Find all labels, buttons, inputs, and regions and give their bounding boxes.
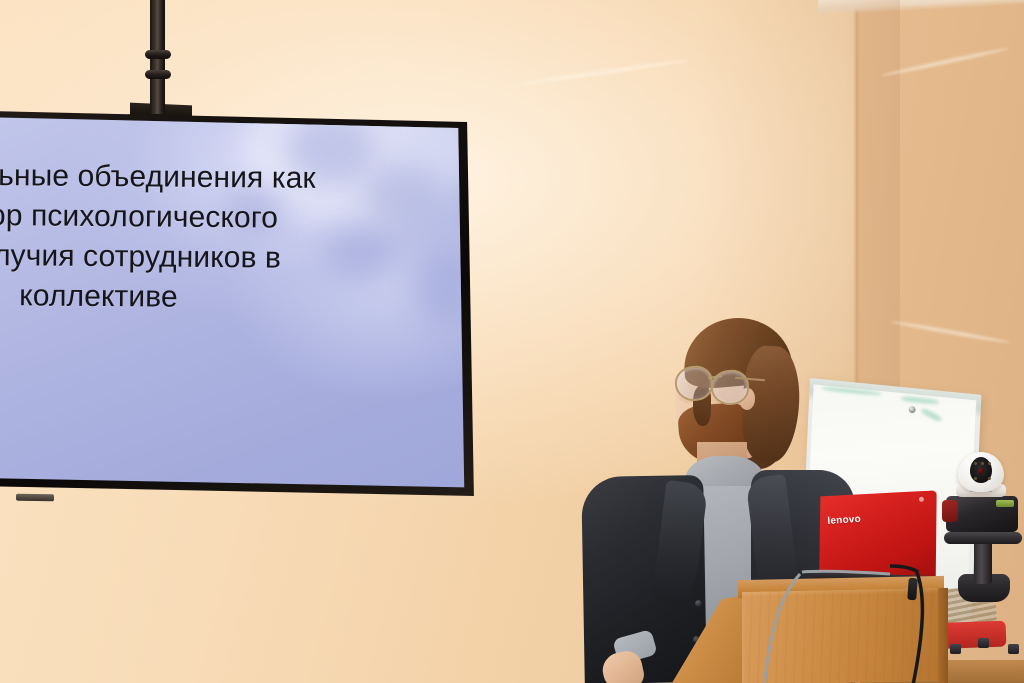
slide-line-4: коллективе xyxy=(0,274,440,320)
tripod-leg-lock xyxy=(1008,644,1019,654)
jacket-button xyxy=(695,600,702,607)
camera-ir-led xyxy=(988,462,991,465)
camera-lens xyxy=(978,468,984,474)
camera-ir-led xyxy=(988,477,991,480)
cable-inline-connector xyxy=(907,578,918,601)
presentation-room-photo: ссиональные объединения как фактор психо… xyxy=(0,0,1024,683)
tv-mount-knob xyxy=(145,50,171,59)
camera-tripod-rig[interactable] xyxy=(940,448,1024,683)
wall-mounted-tv[interactable]: ссиональные объединения как фактор психо… xyxy=(0,100,480,500)
camera-ir-led xyxy=(974,477,977,480)
tripod-center-column xyxy=(974,540,992,584)
tripod-leg-lock xyxy=(978,638,989,648)
slide-line-1: ссиональные объединения как xyxy=(0,154,441,200)
tripod-leg-right xyxy=(1004,593,1024,683)
tripod-pan-handle[interactable] xyxy=(944,532,1022,544)
tv-screen[interactable]: ссиональные объединения как фактор психо… xyxy=(0,105,474,494)
camera-ir-led xyxy=(974,462,977,465)
slide-text: ссиональные объединения как фактор психо… xyxy=(0,154,474,321)
laptop-lid-reflection xyxy=(919,497,924,502)
tripod-head-accent-green xyxy=(996,500,1014,507)
camera-ir-led xyxy=(981,462,984,465)
slide-line-2: фактор психологического xyxy=(0,194,440,240)
tripod-head-accent-red xyxy=(942,500,958,522)
tv-mount-knob xyxy=(145,70,171,79)
tripod-leg-lock xyxy=(950,644,961,654)
tv-brand-badge xyxy=(16,494,54,502)
slide-line-3: агополучия сотрудников в xyxy=(0,234,440,280)
laptop-brand-logo: lenovo xyxy=(827,514,861,527)
